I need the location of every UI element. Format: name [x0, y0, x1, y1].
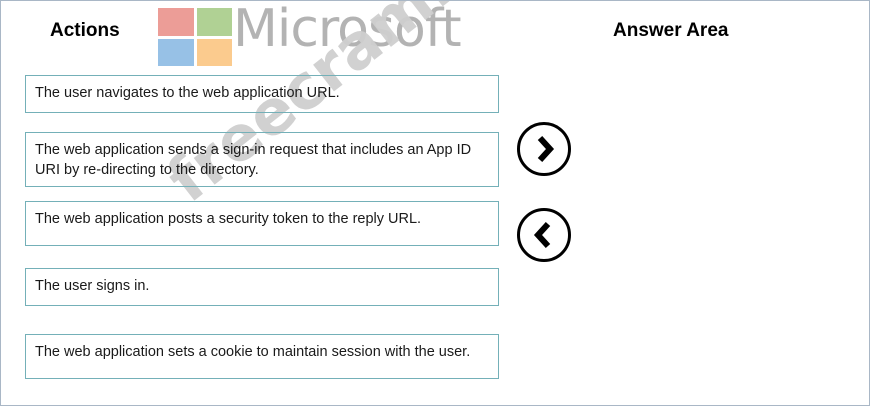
answer-area-column-header: Answer Area: [613, 20, 728, 42]
chevron-right-icon: [516, 121, 572, 177]
exam-question-panel: Microsoft freecram.net Actions Answer Ar…: [0, 0, 870, 406]
action-item-label: The web application sends a sign-in requ…: [35, 142, 471, 178]
move-left-button[interactable]: [516, 207, 572, 263]
actions-column-header: Actions: [50, 20, 120, 42]
content-layer: Actions Answer Area The user navigates t…: [1, 1, 870, 406]
move-right-button[interactable]: [516, 121, 572, 177]
chevron-left-icon: [516, 207, 572, 263]
action-item-5[interactable]: The web application sets a cookie to mai…: [25, 334, 499, 379]
action-item-3[interactable]: The web application posts a security tok…: [25, 201, 499, 246]
action-item-label: The web application posts a security tok…: [35, 211, 421, 227]
action-item-1[interactable]: The user navigates to the web applicatio…: [25, 75, 499, 113]
answer-area-dropzone[interactable]: [601, 71, 856, 386]
action-item-label: The user signs in.: [35, 278, 149, 294]
action-item-2[interactable]: The web application sends a sign-in requ…: [25, 132, 499, 187]
action-item-label: The user navigates to the web applicatio…: [35, 85, 340, 101]
action-item-4[interactable]: The user signs in.: [25, 268, 499, 306]
action-item-label: The web application sets a cookie to mai…: [35, 344, 470, 360]
